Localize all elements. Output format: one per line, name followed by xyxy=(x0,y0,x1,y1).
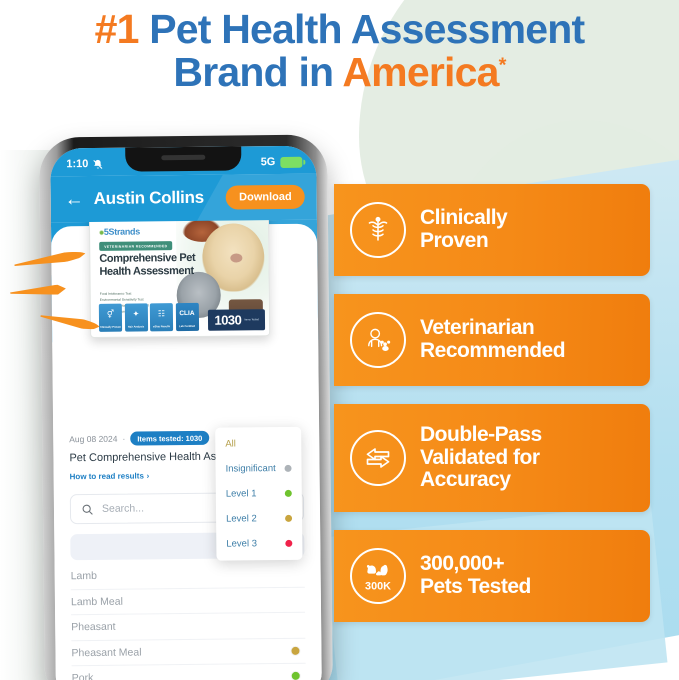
banner-line-1: Double-Pass xyxy=(420,424,542,447)
result-level-dot xyxy=(291,647,299,655)
double-arrow-icon xyxy=(350,430,406,486)
banner-line-2: Pets Tested xyxy=(420,576,531,599)
result-level-dot xyxy=(292,672,300,680)
phone-speaker xyxy=(161,155,205,160)
feature-badge: CLIA Lab Certified xyxy=(175,303,198,331)
dropdown-level-dot xyxy=(285,490,292,497)
banner-double-pass-validated: Double-Pass Validated for Accuracy xyxy=(334,404,650,512)
headline-line2-blue: Brand in xyxy=(173,49,333,95)
dropdown-label: All xyxy=(225,438,236,449)
banner-line-2: Proven xyxy=(420,230,507,253)
dropdown-level-dot xyxy=(285,465,292,472)
chevron-right-icon: › xyxy=(147,471,150,480)
search-placeholder: Search... xyxy=(102,502,144,514)
banner-text: Double-Pass Validated for Accuracy xyxy=(420,424,542,492)
hair-icon: ✦ xyxy=(133,309,140,318)
product-brand-logo: ✹5Strands xyxy=(99,226,140,236)
product-vet-badge: VETERINARIAN RECOMMENDED xyxy=(99,241,172,251)
download-button[interactable]: Download xyxy=(226,185,305,210)
headline-line2-orange: America xyxy=(342,49,498,95)
phone-mockup: 1:10 5G ← Austin Collins Download xyxy=(39,135,333,680)
marketing-infographic: #1 Pet Health Assessment Brand in Americ… xyxy=(0,0,679,680)
product-count-label: Items Tested xyxy=(244,318,259,321)
banner-line-3: Accuracy xyxy=(420,469,542,492)
feature-badge: ⚥ Clinically Proven xyxy=(99,304,122,332)
feature-badge-label: Lab Certified xyxy=(176,325,199,328)
banner-line-2: Recommended xyxy=(420,340,565,363)
battery-icon xyxy=(280,156,302,167)
microscope-icon: ⚥ xyxy=(107,310,114,319)
headline-asterisk: * xyxy=(499,54,506,76)
status-network: 5G xyxy=(261,156,276,168)
result-name: Pheasant Meal xyxy=(71,646,141,659)
phone-notch xyxy=(125,146,241,171)
dropdown-item-insignificant[interactable]: Insignificant xyxy=(215,456,301,482)
banner-line-1: Clinically xyxy=(420,207,507,230)
list-item[interactable]: Pork xyxy=(72,664,306,680)
banner-veterinarian-recommended: Veterinarian Recommended xyxy=(334,294,650,386)
dropdown-item-level-3[interactable]: Level 3 xyxy=(216,531,302,557)
veterinarian-paw-icon xyxy=(350,312,406,368)
dropdown-item-level-1[interactable]: Level 1 xyxy=(216,481,302,507)
phone-screen: 1:10 5G ← Austin Collins Download xyxy=(50,146,322,680)
product-items-count: 1030 Items Tested xyxy=(208,309,265,331)
caduceus-icon xyxy=(350,202,406,258)
dropdown-item-level-2[interactable]: Level 2 xyxy=(216,506,302,532)
app-header: ← Austin Collins Download xyxy=(50,174,316,223)
result-name: Pork xyxy=(72,672,94,680)
app-title: Austin Collins xyxy=(94,188,217,209)
banner-line-1: 300,000+ xyxy=(420,553,531,576)
feature-badge-label: eStay Results xyxy=(150,325,173,328)
status-time: 1:10 xyxy=(66,158,88,170)
dropdown-label: Level 1 xyxy=(226,488,257,499)
list-item[interactable]: Pheasant xyxy=(71,613,305,641)
feature-banner-list: Clinically Proven xyxy=(334,184,650,622)
product-count-number: 1030 xyxy=(214,312,241,327)
report-date: Aug 08 2024 xyxy=(69,434,117,445)
feature-badge-label: Hair Analysis xyxy=(125,325,148,328)
banner-text: Clinically Proven xyxy=(420,207,507,252)
product-feature-badges: ⚥ Clinically Proven ✦ Hair Analysis ☷ eS… xyxy=(99,303,199,332)
banner-text: 300,000+ Pets Tested xyxy=(420,553,531,598)
dropdown-label: Level 2 xyxy=(226,513,257,524)
feature-badge: ✦ Hair Analysis xyxy=(124,303,147,331)
svg-text:300K: 300K xyxy=(365,580,391,592)
headline-number: #1 xyxy=(95,6,139,52)
level-filter-dropdown[interactable]: All Insignificant Level 1 Level 2 Level … xyxy=(215,427,302,561)
list-item[interactable]: Pheasant Meal xyxy=(71,638,305,666)
report-icon: ☷ xyxy=(158,309,165,318)
feature-badge: ☷ eStay Results xyxy=(150,303,173,331)
headline-line1: Pet Health Assessment xyxy=(149,6,584,52)
back-arrow-icon[interactable]: ← xyxy=(65,190,84,209)
list-item[interactable]: Lamb Meal xyxy=(71,587,305,615)
dropdown-label: Insignificant xyxy=(226,463,276,475)
dropdown-level-dot xyxy=(285,540,292,547)
dropdown-label: Level 3 xyxy=(226,538,257,549)
dropdown-level-dot xyxy=(285,515,292,522)
result-name: Lamb xyxy=(71,570,97,582)
headline: #1 Pet Health Assessment Brand in Americ… xyxy=(0,8,679,93)
banner-pets-tested: 300K 300,000+ Pets Tested xyxy=(334,530,650,622)
result-name: Pheasant xyxy=(71,621,115,633)
banner-line-1: Veterinarian xyxy=(420,317,565,340)
result-name: Lamb Meal xyxy=(71,595,123,608)
feature-badge-label: Clinically Proven xyxy=(99,325,122,328)
items-tested-badge: Items tested: 1030 xyxy=(130,431,209,446)
bell-slash-icon xyxy=(92,158,103,169)
results-list: Lamb Lamb Meal Pheasant Pheasant Meal Po… xyxy=(71,562,307,680)
product-box-image: 5 STRANDS HEALTH • TEST • PET INGREDIENT… xyxy=(89,208,270,338)
banner-text: Veterinarian Recommended xyxy=(420,317,565,362)
banner-line-2: Validated for xyxy=(420,447,542,470)
product-box-title: Comprehensive Pet Health Assessment xyxy=(99,252,197,279)
dropdown-item-all[interactable]: All xyxy=(215,431,301,457)
banner-clinically-proven: Clinically Proven xyxy=(334,184,650,276)
list-item[interactable]: Lamb xyxy=(71,562,305,590)
pets-300k-icon: 300K xyxy=(350,548,406,604)
meta-separator: · xyxy=(122,434,125,444)
clia-icon: CLIA xyxy=(179,310,194,317)
how-to-read-label: How to read results xyxy=(70,471,144,481)
search-icon xyxy=(81,502,94,515)
